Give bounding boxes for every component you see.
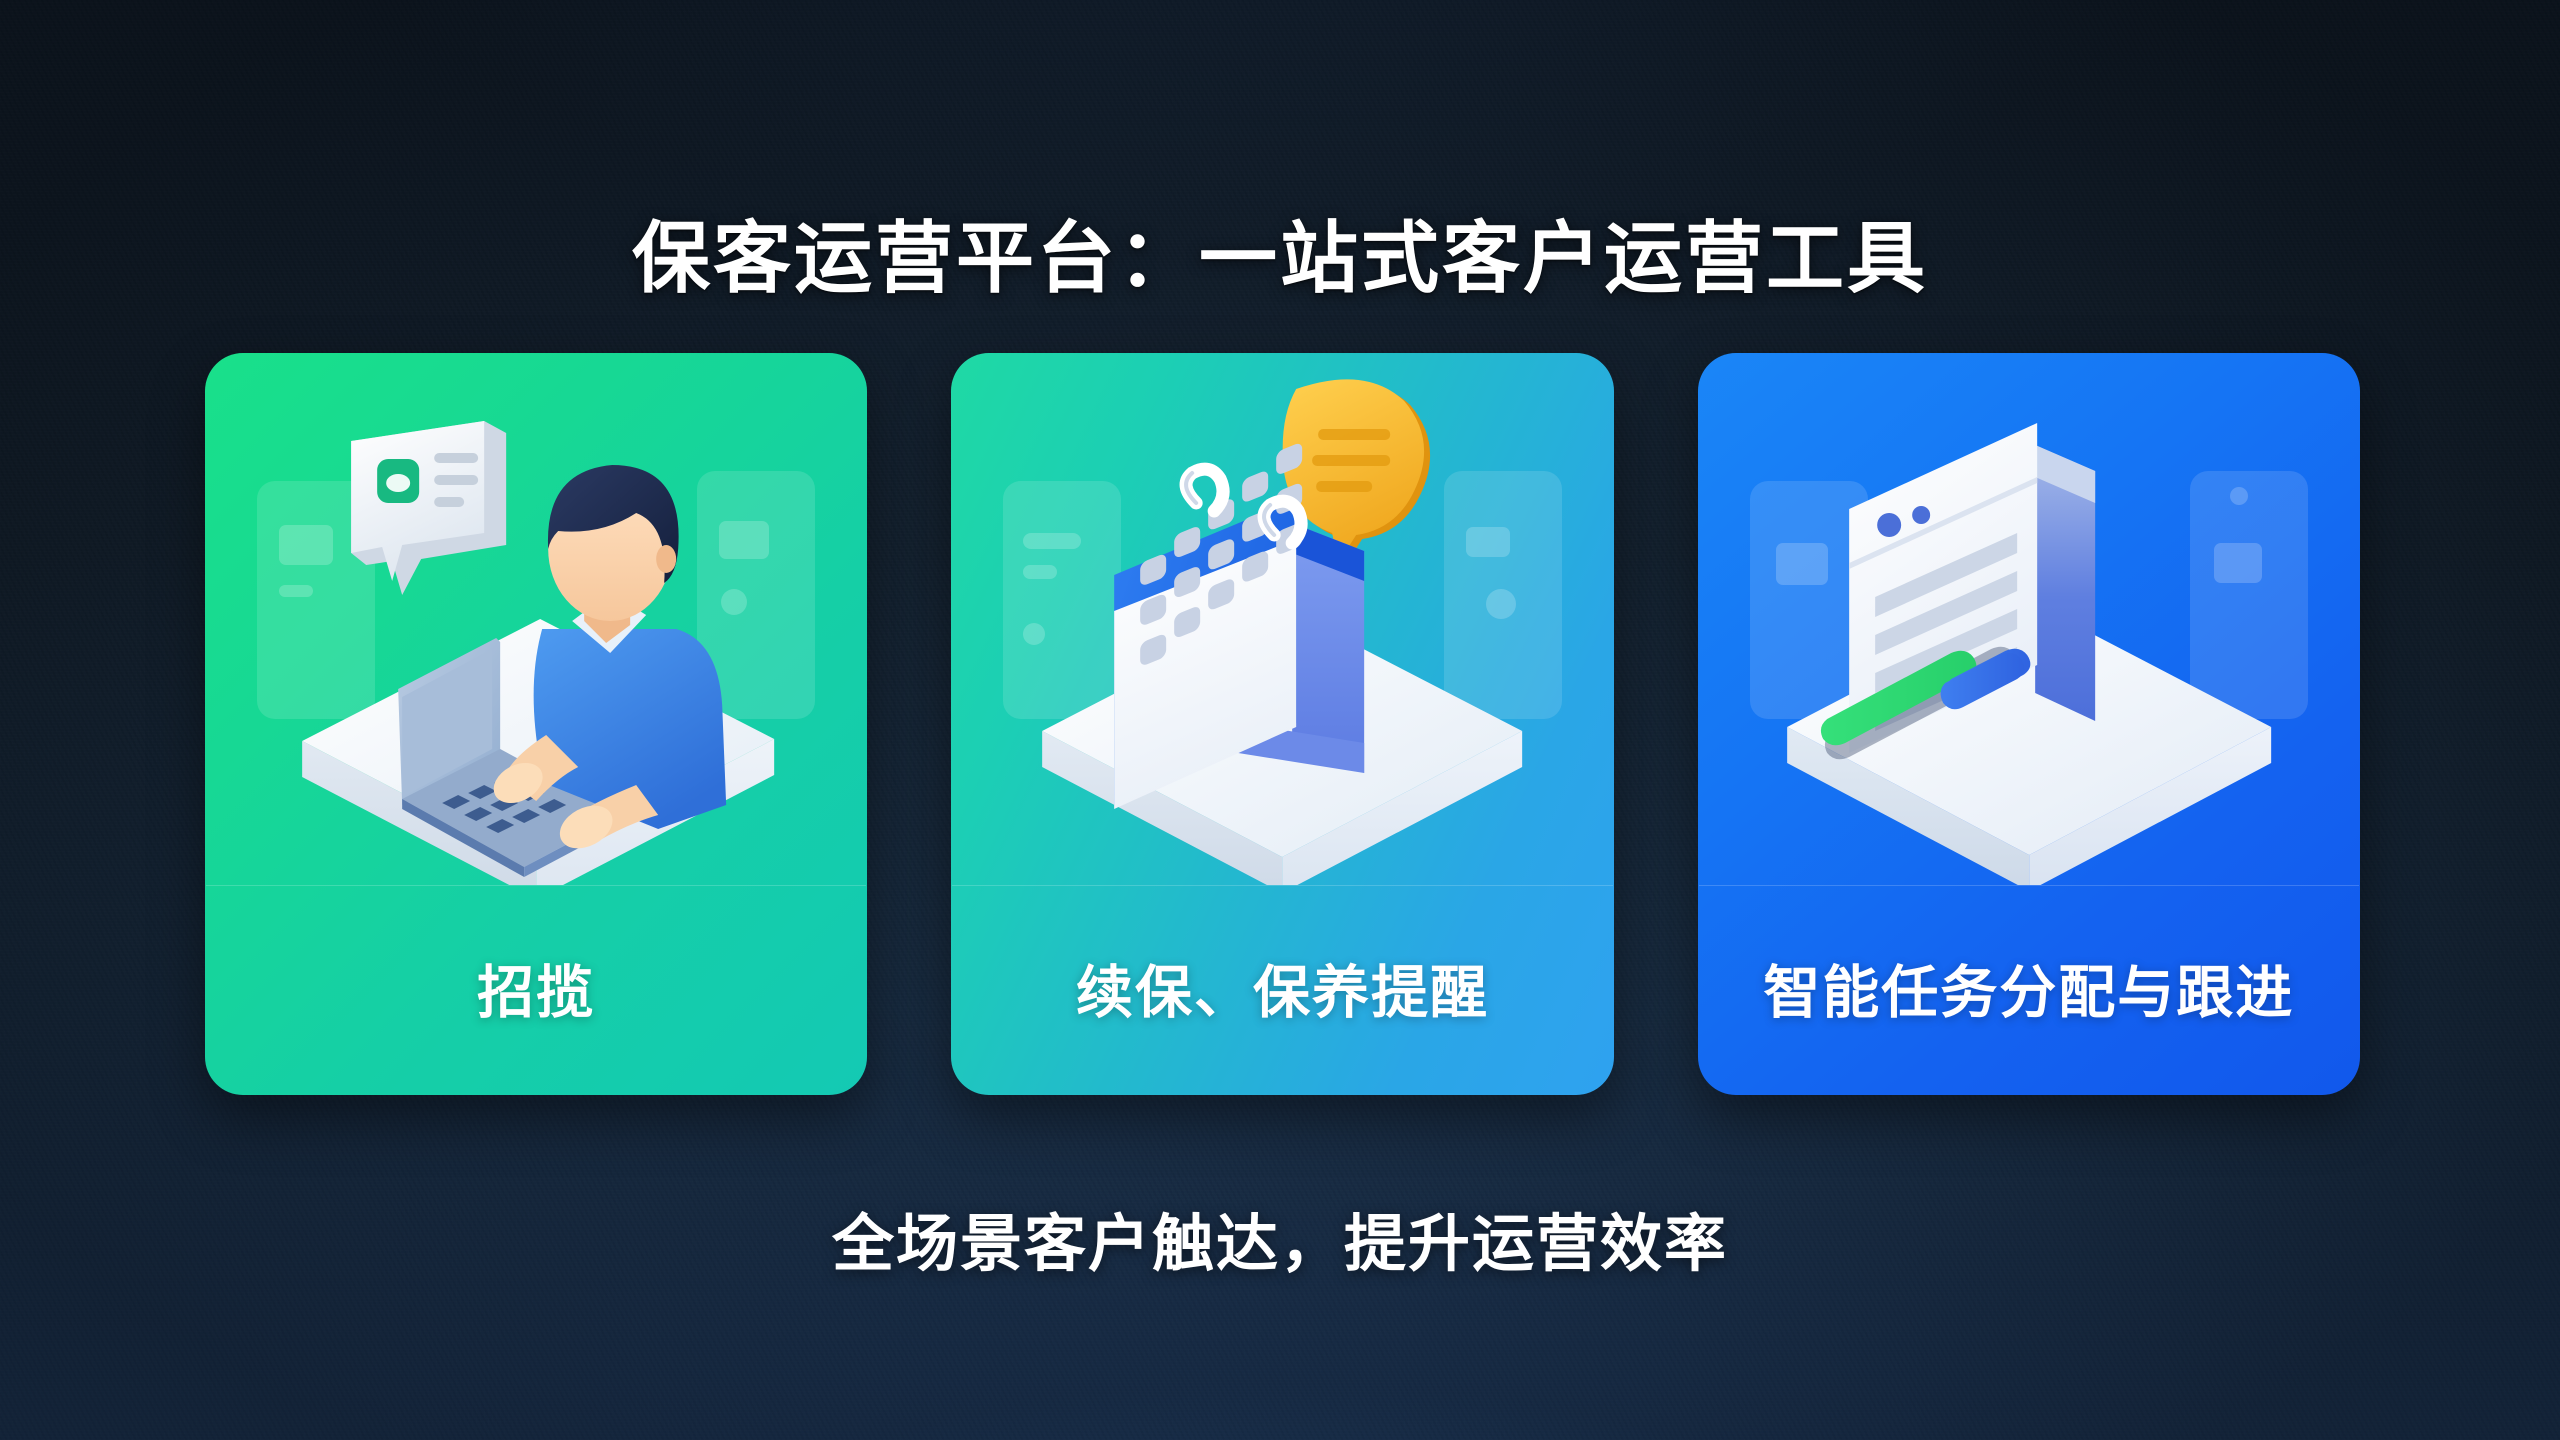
illustration-svg-task-window [1698,353,2360,885]
card-label-recruit: 招揽 [205,886,867,1095]
card-illustration-person-typing-laptop [205,353,867,885]
slide-canvas: 保客运营平台：一站式客户运营工具 [0,0,2560,1440]
feature-card-task-assignment[interactable]: 智能任务分配与跟进 [1698,353,2360,1095]
page-title: 保客运营平台：一站式客户运营工具 [0,204,2560,312]
window-panel-side [2035,445,2095,721]
card-illustration-desk-calendar [951,353,1613,885]
chat-bubble-icon [351,421,506,595]
feature-card-row: 招揽 [205,353,2360,1095]
illustration-svg-person-typing [205,353,867,885]
card-label-renewal-reminder: 续保、保养提醒 [951,886,1613,1095]
page-caption: 全场景客户触达，提升运营效率 [0,1203,2560,1287]
feature-card-recruit[interactable]: 招揽 [205,353,867,1095]
card-label-task-assignment: 智能任务分配与跟进 [1698,886,2360,1095]
card-illustration-task-window [1698,353,2360,885]
feature-card-renewal-reminder[interactable]: 续保、保养提醒 [951,353,1613,1095]
illustration-svg-calendar [951,353,1613,885]
